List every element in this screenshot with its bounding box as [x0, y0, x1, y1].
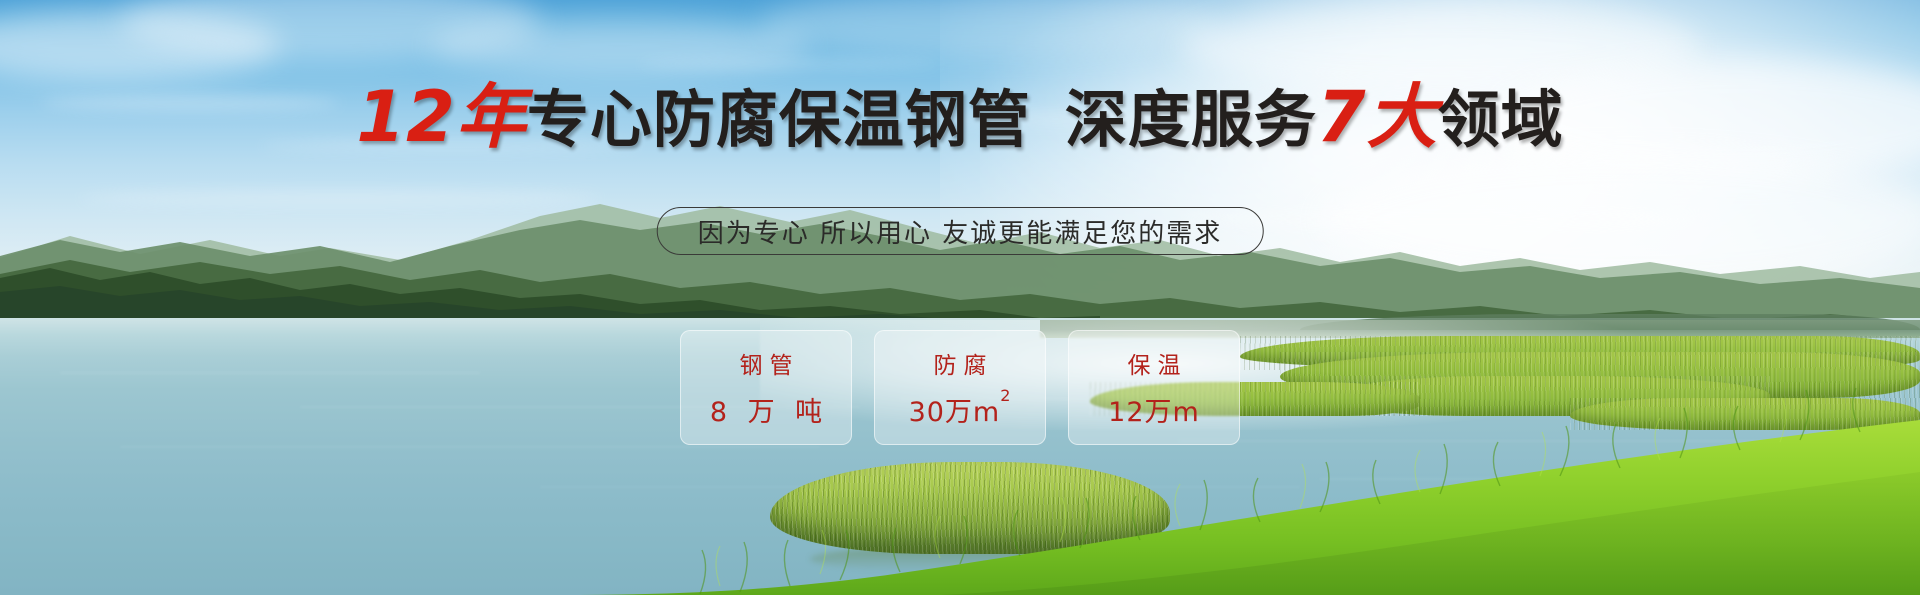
subtitle-pill: 因为专心 所以用心 友诚更能满足您的需求	[657, 207, 1264, 255]
stat-card[interactable]: 保温 12万m	[1068, 330, 1240, 445]
page-title: 12年专心防腐保温钢管深度服务7大领域	[0, 82, 1920, 152]
promo-banner: 12年专心防腐保温钢管深度服务7大领域 因为专心 所以用心 友诚更能满足您的需求…	[0, 0, 1920, 595]
stat-card-label: 钢管	[733, 346, 800, 380]
stat-card-value: 8 万 吨	[704, 390, 828, 429]
stat-card-value: 30万m2	[909, 390, 1012, 429]
stat-card-label: 保温	[1121, 346, 1188, 380]
sky-background	[0, 0, 1920, 330]
stat-card[interactable]: 防腐 30万m2	[874, 330, 1046, 445]
headline-segment: 专心防腐保温钢管	[527, 83, 1031, 156]
stat-card-label: 防腐	[927, 346, 994, 380]
stat-value-base: 30万m	[909, 397, 1001, 428]
headline-segment: 大	[1367, 76, 1438, 158]
water-foam	[1660, 470, 1800, 486]
headline-segment: 12	[356, 76, 455, 158]
stat-card[interactable]: 钢管 8 万 吨	[680, 330, 852, 445]
stat-value-base: 12万m	[1108, 397, 1200, 428]
headline-segment: 年	[456, 76, 527, 158]
stat-value-base: 8 万 吨	[710, 397, 828, 428]
stat-card-list: 钢管 8 万 吨 防腐 30万m2 保温 12万m	[680, 330, 1240, 445]
stat-card-value: 12万m	[1108, 390, 1200, 429]
headline-segment: 7	[1317, 76, 1367, 158]
headline-segment: 深度服务	[1065, 83, 1317, 156]
headline-segment: 领域	[1438, 83, 1564, 156]
subtitle-text: 因为专心 所以用心 友诚更能满足您的需求	[698, 213, 1223, 250]
stat-value-sup: 2	[1000, 386, 1011, 405]
